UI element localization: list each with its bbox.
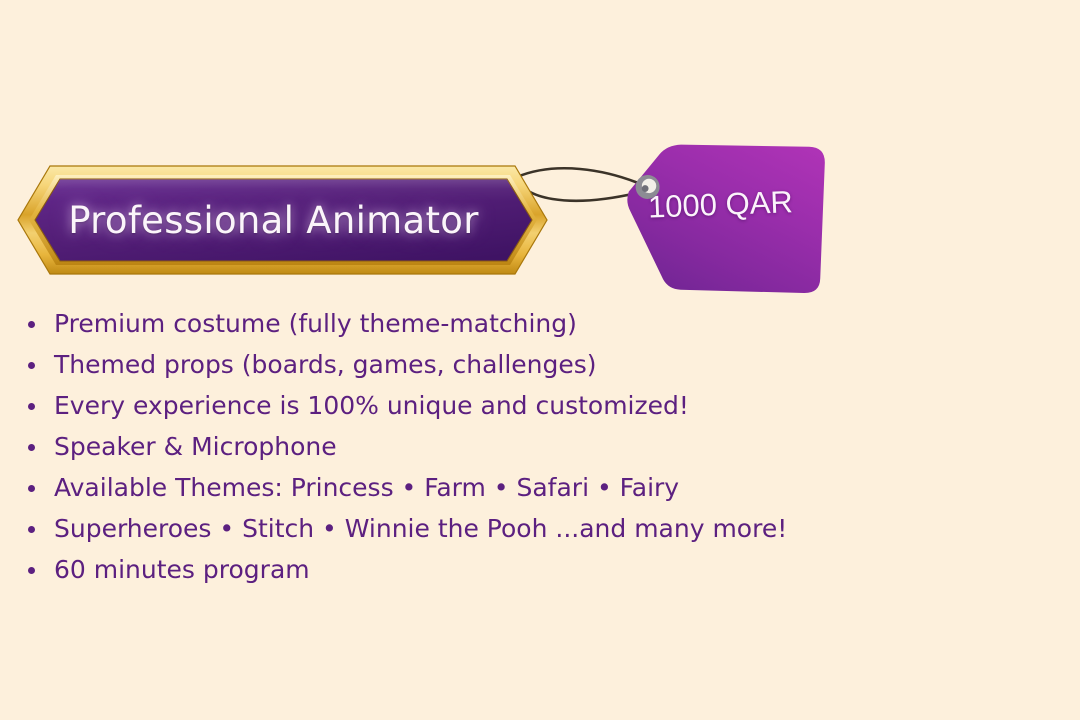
list-item: 60 minutes program	[24, 554, 1024, 585]
price-tag: 1000 QAR	[600, 130, 850, 315]
list-item: Every experience is 100% unique and cust…	[24, 390, 1024, 421]
banner-shape	[10, 160, 555, 280]
list-item: Themed props (boards, games, challenges)	[24, 349, 1024, 380]
features-list: Premium costume (fully theme-matching) T…	[24, 308, 1024, 595]
list-item: Available Themes: Princess • Farm • Safa…	[24, 472, 1024, 503]
price-tag-shape	[600, 130, 850, 315]
list-item: Superheroes • Stitch • Winnie the Pooh .…	[24, 513, 1024, 544]
list-item: Premium costume (fully theme-matching)	[24, 308, 1024, 339]
slide-canvas: Professional Animator 1000 QAR	[0, 0, 1080, 720]
banner-professional-animator: Professional Animator	[10, 160, 555, 280]
list-item: Speaker & Microphone	[24, 431, 1024, 462]
